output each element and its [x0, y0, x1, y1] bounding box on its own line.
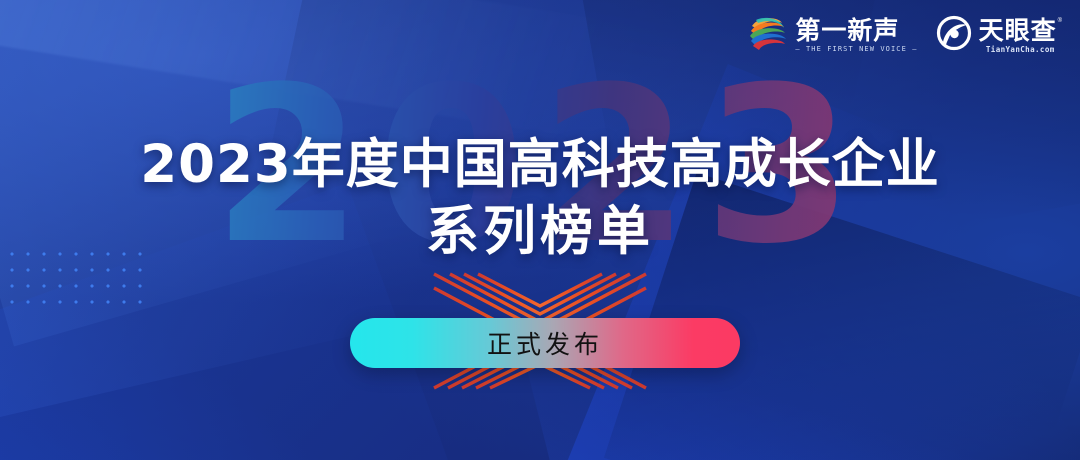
logo-diyixinsheng-en: — THE FIRST NEW VOICE — [795, 46, 917, 53]
headline-line-2: 系列榜单 [0, 199, 1080, 266]
logo-tianyancha-cn: 天眼查 [979, 18, 1057, 43]
logo-tianyancha-cn-wrap: 天眼查 ® [979, 18, 1062, 43]
eye-lens-icon [936, 15, 972, 56]
page-title: 2023年度中国高科技高成长企业 系列榜单 [0, 132, 1080, 266]
logo-diyixinsheng[interactable]: 第一新声 — THE FIRST NEW VOICE — [748, 14, 917, 57]
registered-trademark-icon: ® [1058, 18, 1062, 24]
logo-bar: 第一新声 — THE FIRST NEW VOICE — 天眼查 ® TianY… [748, 14, 1062, 57]
logo-diyixinsheng-cn: 第一新声 [795, 18, 917, 43]
release-cta-button[interactable]: 正式发布 [350, 318, 740, 368]
logo-diyixinsheng-text: 第一新声 — THE FIRST NEW VOICE — [795, 18, 917, 53]
release-cta-label: 正式发布 [487, 325, 603, 361]
logo-tianyancha-text: 天眼查 ® TianYanCha.com [979, 18, 1062, 54]
promo-banner: 2023 [0, 0, 1080, 460]
logo-tianyancha-en: TianYanCha.com [979, 46, 1062, 54]
headline-line-1: 2023年度中国高科技高成长企业 [0, 132, 1080, 199]
logo-tianyancha[interactable]: 天眼查 ® TianYanCha.com [936, 15, 1062, 56]
swoosh-globe-icon [748, 14, 788, 57]
